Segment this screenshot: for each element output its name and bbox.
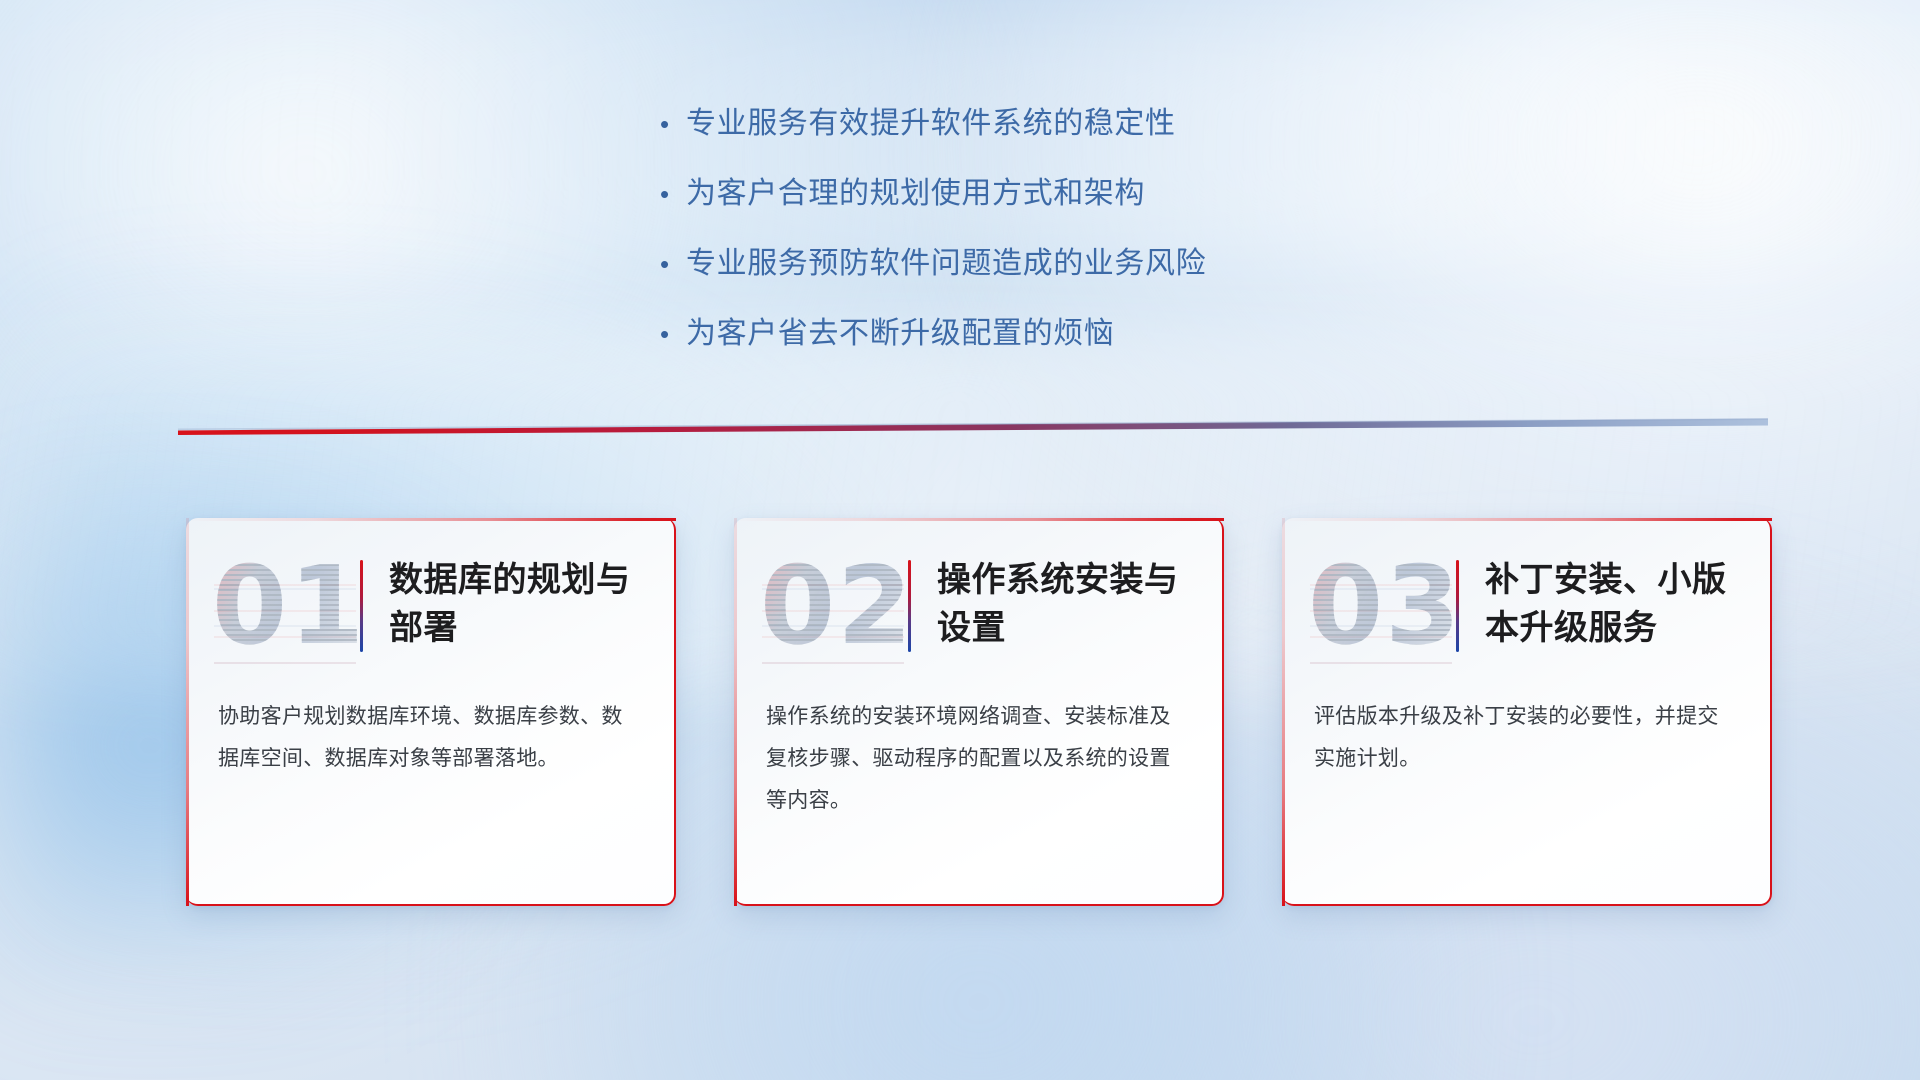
card-body-text: 评估版本升级及补丁安装的必要性，并提交实施计划。 xyxy=(1282,696,1772,780)
card-number: 02 xyxy=(760,548,908,666)
card-title: 补丁安装、小版本升级服务 xyxy=(1485,548,1738,652)
divider-shape xyxy=(178,418,1768,436)
card-title: 操作系统安装与设置 xyxy=(937,548,1190,652)
card-header: 03 补丁安装、小版本升级服务 xyxy=(1282,518,1772,696)
bullet-dot-icon: • xyxy=(660,104,686,144)
card-title: 数据库的规划与部署 xyxy=(389,548,642,652)
benefits-bullet-list: • 专业服务有效提升软件系统的稳定性 • 为客户合理的规划使用方式和架构 • 专… xyxy=(660,104,1206,384)
section-divider xyxy=(178,418,1768,436)
service-cards: 01 数据库的规划与部署 协助客户规划数据库环境、数据库参数、数据库空间、数据库… xyxy=(186,518,1772,906)
list-item: • 为客户合理的规划使用方式和架构 xyxy=(660,174,1206,214)
bullet-text: 为客户合理的规划使用方式和架构 xyxy=(686,174,1145,214)
card-number: 03 xyxy=(1308,548,1456,666)
slide-content: • 专业服务有效提升软件系统的稳定性 • 为客户合理的规划使用方式和架构 • 专… xyxy=(0,0,1920,1080)
bullet-text: 专业服务有效提升软件系统的稳定性 xyxy=(686,104,1176,144)
card-number: 01 xyxy=(212,548,360,666)
service-card[interactable]: 01 数据库的规划与部署 协助客户规划数据库环境、数据库参数、数据库空间、数据库… xyxy=(186,518,676,906)
bullet-dot-icon: • xyxy=(660,244,686,284)
bullet-text: 专业服务预防软件问题造成的业务风险 xyxy=(686,244,1206,284)
bullet-text: 为客户省去不断升级配置的烦恼 xyxy=(686,314,1114,354)
service-card[interactable]: 02 操作系统安装与设置 操作系统的安装环境网络调查、安装标准及复核步骤、驱动程… xyxy=(734,518,1224,906)
list-item: • 专业服务有效提升软件系统的稳定性 xyxy=(660,104,1206,144)
list-item: • 专业服务预防软件问题造成的业务风险 xyxy=(660,244,1206,284)
card-header: 02 操作系统安装与设置 xyxy=(734,518,1224,696)
card-header: 01 数据库的规划与部署 xyxy=(186,518,676,696)
service-card[interactable]: 03 补丁安装、小版本升级服务 评估版本升级及补丁安装的必要性，并提交实施计划。 xyxy=(1282,518,1772,906)
card-body-text: 操作系统的安装环境网络调查、安装标准及复核步骤、驱动程序的配置以及系统的设置等内… xyxy=(734,696,1224,822)
list-item: • 为客户省去不断升级配置的烦恼 xyxy=(660,314,1206,354)
bullet-dot-icon: • xyxy=(660,174,686,214)
card-body-text: 协助客户规划数据库环境、数据库参数、数据库空间、数据库对象等部署落地。 xyxy=(186,696,676,780)
bullet-dot-icon: • xyxy=(660,314,686,354)
